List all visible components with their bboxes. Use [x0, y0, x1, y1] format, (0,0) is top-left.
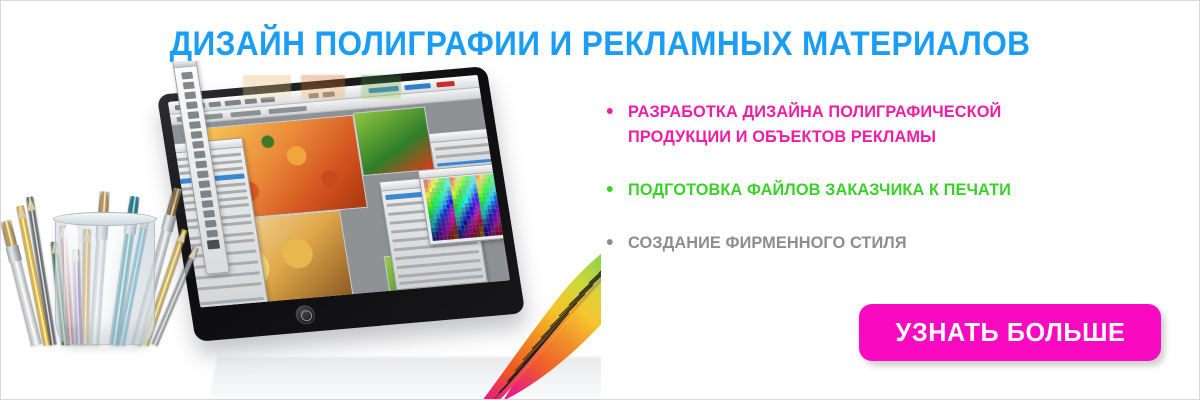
reflection-photo-a — [243, 75, 291, 99]
list-item: ПОДГОТОВКА ФАЙЛОВ ЗАКАЗЧИКА К ПЕЧАТИ — [605, 177, 1104, 202]
healing-brush-tool-icon — [190, 131, 202, 139]
tip — [26, 196, 36, 211]
blur-tool-icon — [198, 180, 210, 188]
color-swatch — [509, 176, 510, 181]
crop-tool-icon — [187, 111, 199, 119]
color-swatch — [499, 182, 503, 187]
zoom-tool-icon — [206, 230, 218, 238]
gradient-tool-icon — [196, 170, 208, 178]
color-swatch — [499, 186, 503, 191]
type-tool-icon — [201, 200, 213, 208]
glass-cup — [55, 217, 155, 345]
glass-cup-with-brushes-and-pencils — [13, 109, 193, 359]
color-swatch — [494, 178, 498, 183]
bullet-dot-icon — [607, 239, 613, 245]
color-swatch — [508, 190, 510, 195]
ferrule — [6, 244, 22, 263]
feature-text: РАЗРАБОТКА ДИЗАЙНА ПОЛИГРАФИЧЕСКОЙ ПРОДУ… — [628, 102, 1001, 146]
color-swatch — [506, 181, 510, 186]
glass-cup-rim — [53, 212, 157, 226]
photo-green-vegetables — [354, 108, 434, 175]
feature-text: ПОДГОТОВКА ФАЙЛОВ ЗАКАЗЧИКА К ПЕЧАТИ — [628, 180, 1011, 199]
brush-tool-icon — [192, 141, 204, 149]
tip — [16, 205, 26, 219]
color-swatch — [494, 173, 498, 178]
pen-tool-icon — [199, 190, 211, 198]
tip — [166, 187, 183, 217]
color-swatch — [503, 186, 507, 191]
color-swatch — [508, 194, 510, 199]
color-swatch — [502, 181, 506, 186]
tip — [177, 228, 189, 243]
rainbow-feather-icon — [451, 201, 601, 400]
list-item: СОЗДАНИЕ ФИРМЕННОГО СТИЛЯ — [605, 230, 1104, 255]
color-swatch — [497, 195, 501, 200]
color-swatch — [505, 195, 509, 200]
clone-stamp-tool-icon — [193, 151, 205, 159]
eraser-tool-icon — [195, 161, 207, 169]
color-swatch — [498, 177, 502, 182]
learn-more-button[interactable]: УЗНАТЬ БОЛЬШЕ — [859, 304, 1161, 361]
marquee-tool-icon — [182, 82, 194, 90]
shape-tool-icon — [203, 210, 215, 218]
foreground-color-swatch-icon — [207, 240, 220, 250]
color-swatch — [502, 177, 506, 182]
color-swatch — [501, 173, 505, 178]
bullet-dot-icon — [607, 108, 613, 114]
color-swatch — [500, 190, 504, 195]
bullet-dot-icon — [607, 186, 613, 192]
promo-banner: ДИЗАЙН ПОЛИГРАФИИ И РЕКЛАМНЫХ МАТЕРИАЛОВ… — [0, 0, 1200, 400]
color-swatch — [509, 172, 510, 177]
move-tool-icon — [181, 72, 193, 80]
color-swatch — [496, 186, 500, 191]
hand-tool-icon — [204, 220, 216, 228]
lasso-tool-icon — [184, 91, 196, 99]
color-swatch — [504, 190, 508, 195]
color-swatch — [507, 185, 510, 190]
list-item: РАЗРАБОТКА ДИЗАЙНА ПОЛИГРАФИЧЕСКОЙ ПРОДУ… — [605, 99, 1104, 149]
color-swatch — [497, 173, 501, 178]
reflection-photo-c — [361, 75, 401, 99]
color-swatch — [495, 182, 499, 187]
ferrule — [161, 214, 177, 233]
eyedropper-tool-icon — [188, 121, 200, 129]
hero-illustration — [1, 61, 601, 400]
photo-color-strip-green — [311, 297, 348, 308]
device-stage — [151, 61, 581, 391]
photo-color-strip-blue — [223, 306, 266, 307]
color-swatch — [506, 177, 510, 182]
feature-list: РАЗРАБОТКА ДИЗАЙНА ПОЛИГРАФИЧЕСКОЙ ПРОДУ… — [605, 99, 1125, 255]
learn-more-label: УЗНАТЬ БОЛЬШЕ — [895, 317, 1125, 348]
magic-wand-tool-icon — [185, 101, 197, 109]
home-button-icon[interactable] — [294, 305, 316, 325]
tip — [1, 219, 17, 247]
reflection-photo-b — [301, 75, 345, 99]
color-swatch — [501, 195, 505, 200]
color-swatch — [496, 191, 500, 196]
page-title: ДИЗАЙН ПОЛИГРАФИИ И РЕКЛАМНЫХ МАТЕРИАЛОВ — [43, 23, 1157, 66]
color-swatch — [505, 172, 509, 177]
feature-text: СОЗДАНИЕ ФИРМЕННОГО СТИЛЯ — [628, 233, 907, 252]
